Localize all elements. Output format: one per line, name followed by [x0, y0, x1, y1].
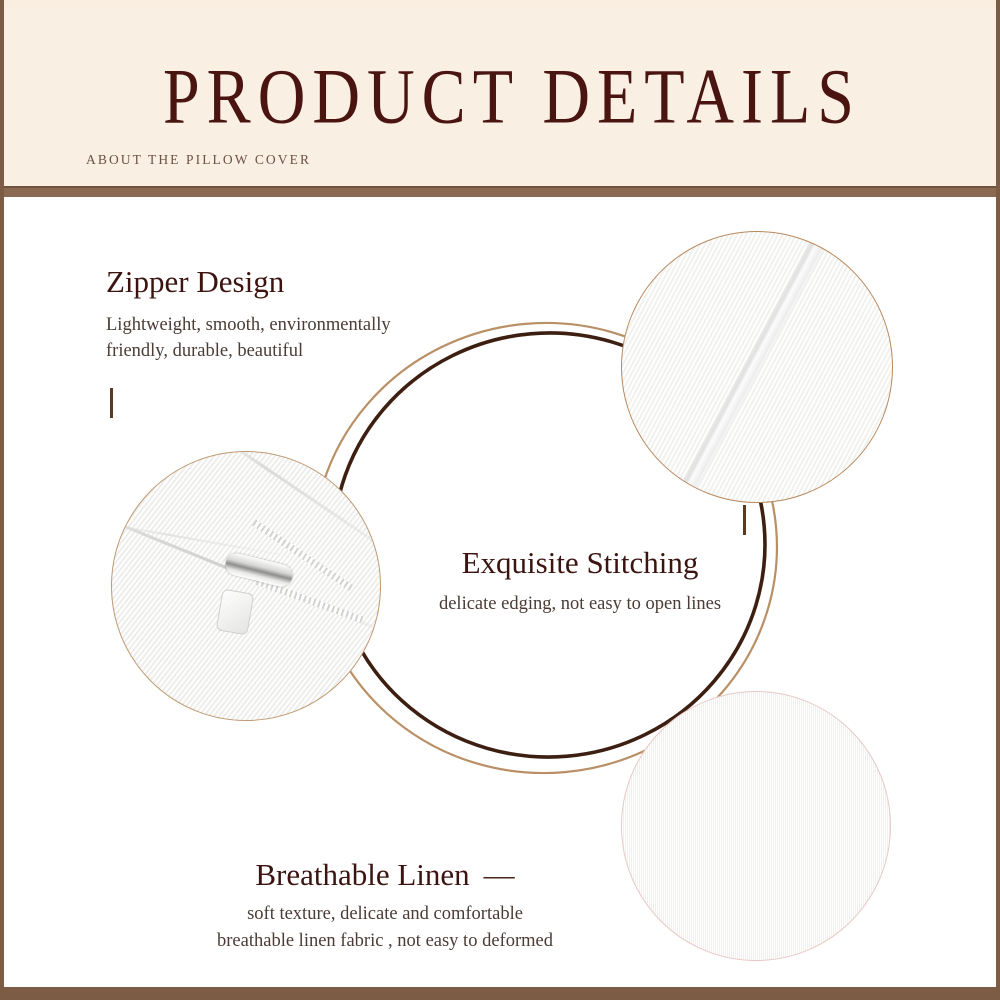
feature-desc-stitching-line1: delicate edging, not easy to open lines: [400, 591, 760, 617]
feature-title-zipper: Zipper Design: [106, 262, 391, 302]
page-subtitle: ABOUT THE PILLOW COVER: [86, 152, 311, 168]
page-title: PRODUCT DETAILS: [82, 54, 942, 141]
frame-border-bottom: [0, 987, 1000, 1000]
fabric-fold-line: [111, 519, 298, 558]
zipper-pull-tab: [216, 589, 255, 636]
feature-desc-zipper-line2: friendly, durable, beautiful: [106, 338, 391, 364]
feature-block-stitching: Exquisite Stitching delicate edging, not…: [400, 543, 760, 617]
tick-mark-zipper: [110, 388, 113, 418]
title-dash-icon: —: [484, 855, 515, 895]
product-details-infographic: PRODUCT DETAILS ABOUT THE PILLOW COVER Z…: [0, 0, 1000, 1000]
linen-fabric-closeup-photo: [621, 691, 891, 961]
feature-title-stitching: Exquisite Stitching: [400, 543, 760, 583]
tick-mark-stitching: [743, 505, 746, 535]
frame-border-left: [0, 0, 4, 1000]
zipper-closeup-photo: [111, 451, 381, 721]
feature-title-linen-row: Breathable Linen—: [170, 855, 600, 895]
header-banner: PRODUCT DETAILS ABOUT THE PILLOW COVER: [0, 0, 1000, 190]
feature-desc-linen-line2: breathable linen fabric , not easy to de…: [170, 928, 600, 955]
feature-desc-linen-line1: soft texture, delicate and comfortable: [170, 901, 600, 928]
feature-title-linen: Breathable Linen: [255, 857, 469, 892]
frame-border-right: [996, 0, 1000, 1000]
stitching-closeup-photo: [621, 231, 893, 503]
feature-desc-zipper-line1: Lightweight, smooth, environmentally: [106, 312, 391, 338]
header-divider: [0, 188, 1000, 197]
feature-block-zipper: Zipper Design Lightweight, smooth, envir…: [106, 262, 391, 364]
feature-block-linen: Breathable Linen— soft texture, delicate…: [170, 855, 600, 955]
